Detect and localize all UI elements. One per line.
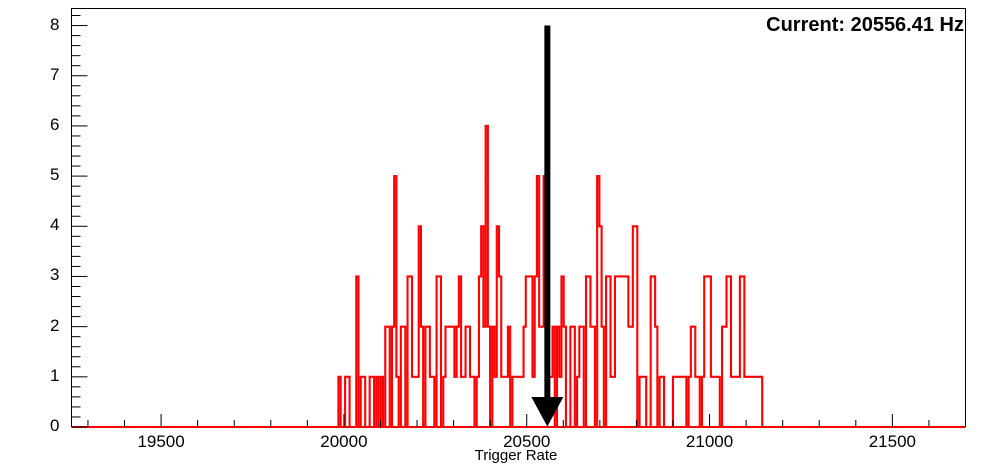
y-tick-label: 3	[26, 265, 60, 285]
y-tick-label: 1	[26, 366, 60, 386]
axis-ticks	[72, 16, 966, 427]
current-rate-title: Current: 20556.41 Hz	[766, 14, 964, 37]
y-tick-label: 7	[26, 65, 60, 85]
x-tick-label: 21000	[684, 432, 736, 452]
y-tick-label: 2	[26, 316, 60, 336]
y-tick-label: 4	[26, 215, 60, 235]
x-tick-label: 20000	[318, 432, 370, 452]
x-tick-label: 19500	[135, 432, 187, 452]
y-tick-label: 8	[26, 15, 60, 35]
y-tick-label: 6	[26, 115, 60, 135]
x-tick-label: 20500	[501, 432, 553, 452]
y-tick-label: 5	[26, 165, 60, 185]
x-tick-label: 21500	[866, 432, 918, 452]
y-tick-label: 0	[26, 416, 60, 436]
histogram-series	[72, 126, 966, 427]
trigger-rate-histogram-plot: Current: 20556.41 Hz Trigger Rate 195002…	[0, 0, 996, 472]
plot-canvas	[0, 0, 996, 472]
